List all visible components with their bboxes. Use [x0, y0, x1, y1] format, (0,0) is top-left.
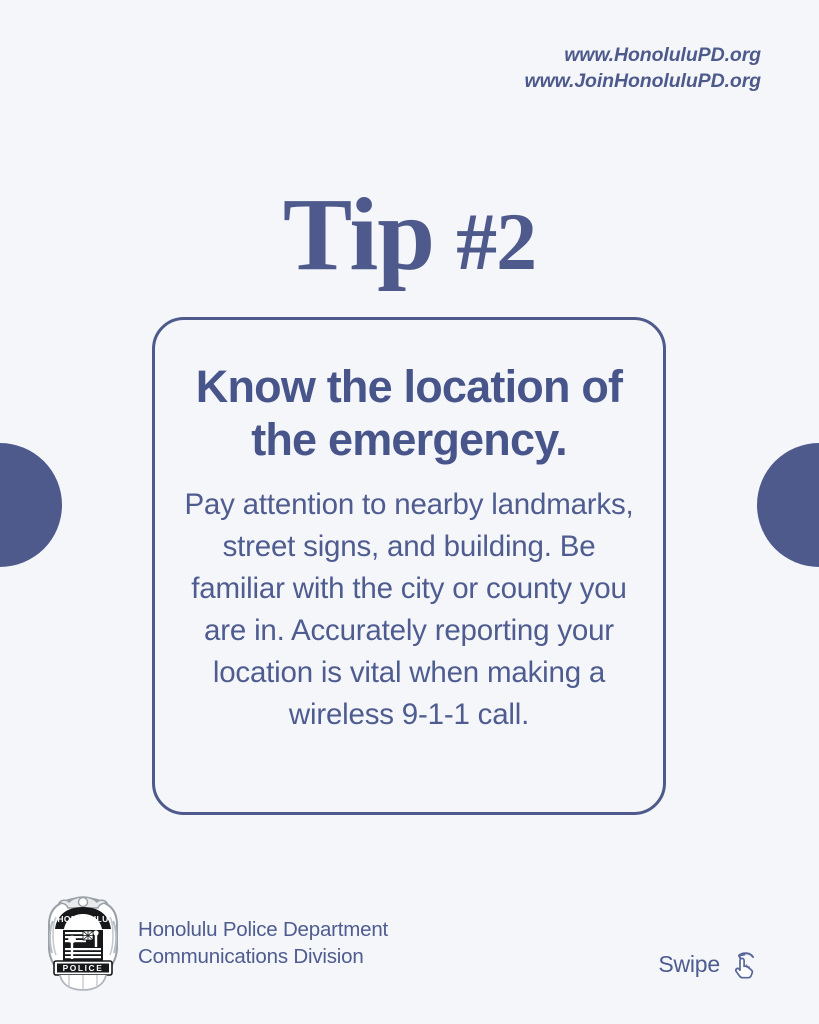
tip-heading: Tip#2: [0, 183, 819, 287]
card-body: Pay attention to nearby landmarks, stree…: [173, 484, 645, 735]
tip-word: Tip: [283, 177, 434, 292]
footer-org-text: Honolulu Police Department Communication…: [138, 916, 388, 971]
swipe-label: Swipe: [658, 951, 720, 978]
card-title: Know the location of the emergency.: [173, 360, 645, 466]
url-recruiting[interactable]: www.JoinHonoluluPD.org: [525, 68, 761, 94]
svg-text:POLICE: POLICE: [63, 963, 104, 973]
poster-canvas: www.HonoluluPD.org www.JoinHonoluluPD.or…: [0, 0, 819, 1024]
swipe-hint[interactable]: Swipe: [658, 947, 761, 981]
footer-branding: HONOLULU: [42, 895, 388, 991]
tip-number: #2: [456, 196, 536, 287]
pointing-hand-swipe-left-icon: [727, 947, 761, 981]
website-urls: www.HonoluluPD.org www.JoinHonoluluPD.or…: [525, 42, 761, 95]
svg-text:HONOLULU: HONOLULU: [57, 914, 108, 924]
decorative-circle-right: [757, 443, 819, 567]
footer-org-line1: Honolulu Police Department: [138, 916, 388, 943]
tip-card: Know the location of the emergency. Pay …: [152, 317, 666, 815]
url-main[interactable]: www.HonoluluPD.org: [525, 42, 761, 68]
hpd-badge-icon: HONOLULU: [42, 895, 124, 991]
footer-org-line2: Communications Division: [138, 943, 388, 970]
decorative-circle-left: [0, 443, 62, 567]
